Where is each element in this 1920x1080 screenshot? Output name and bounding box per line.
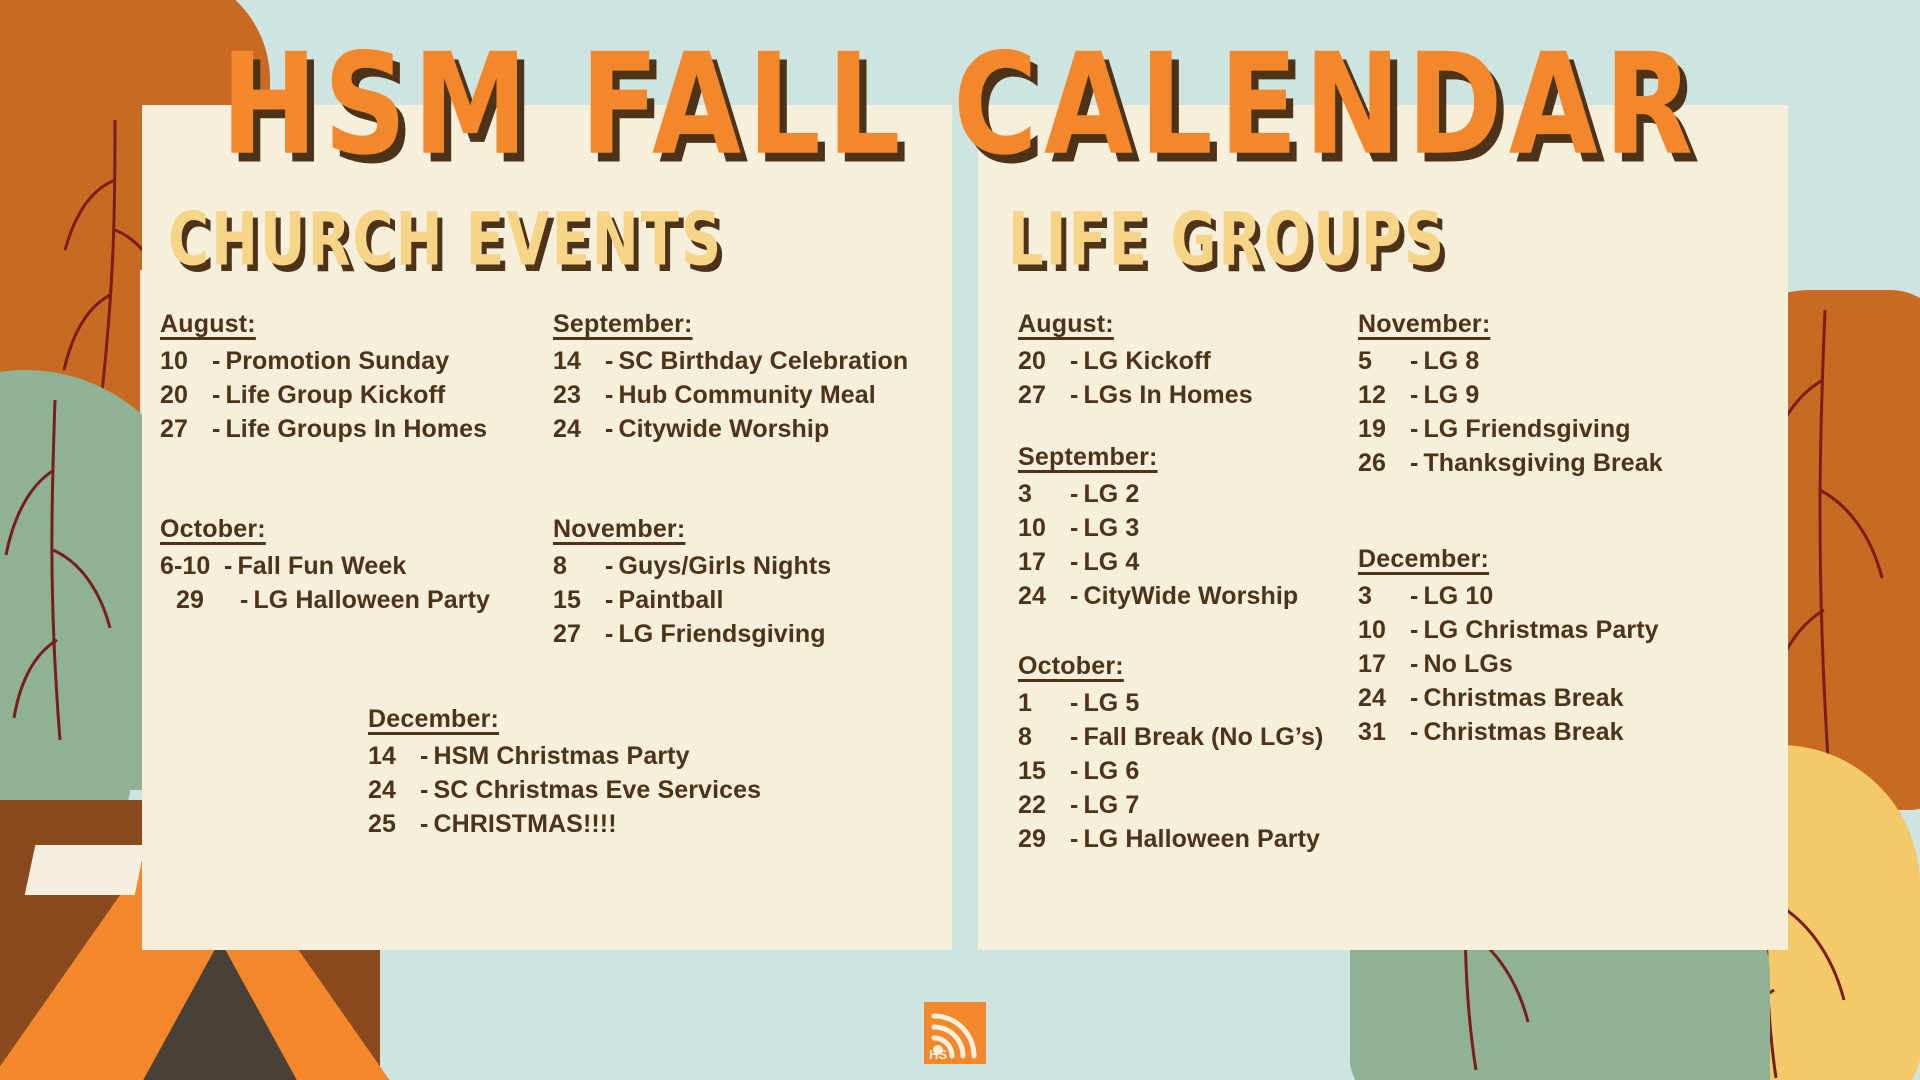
separator: - — [1408, 378, 1423, 412]
separator: - — [210, 344, 225, 378]
event: LG 4 — [1083, 545, 1139, 579]
brand-logo: HS — [924, 1002, 986, 1064]
date: 27 — [553, 617, 603, 651]
list-item: 1-LG 5 — [1018, 686, 1323, 720]
separator: - — [1408, 647, 1423, 681]
church-november-block: November: 8-Guys/Girls Nights 15-Paintba… — [553, 515, 831, 651]
list-item: 31-Christmas Break — [1358, 715, 1659, 749]
page-title: HSM FALL CALENDAR — [0, 24, 1920, 187]
separator: - — [1068, 344, 1083, 378]
separator: - — [603, 617, 618, 651]
date: 17 — [1018, 545, 1068, 579]
separator: - — [603, 412, 618, 446]
church-august-block: August: 10-Promotion Sunday 20-Life Grou… — [160, 310, 487, 446]
separator: - — [1408, 681, 1423, 715]
event: Paintball — [618, 583, 723, 617]
date: 24 — [553, 412, 603, 446]
event: Fall Fun Week — [237, 549, 406, 583]
month-label: August: — [160, 310, 487, 339]
separator: - — [418, 739, 433, 773]
event: LG Friendsgiving — [618, 617, 825, 651]
separator: - — [1068, 754, 1083, 788]
logo-text: HS — [929, 1047, 947, 1062]
separator: - — [418, 773, 433, 807]
event: SC Birthday Celebration — [618, 344, 908, 378]
event: No LGs — [1423, 647, 1513, 681]
list-item: 29-LG Halloween Party — [1018, 822, 1323, 856]
separator: - — [1068, 822, 1083, 856]
list-item: 8-Fall Break (No LG’s) — [1018, 720, 1323, 754]
separator: - — [222, 549, 237, 583]
event: LG Christmas Party — [1423, 613, 1658, 647]
separator: - — [1408, 446, 1423, 480]
date: 17 — [1358, 647, 1408, 681]
date: 24 — [1358, 681, 1408, 715]
date: 8 — [1018, 720, 1068, 754]
date: 1 — [1018, 686, 1068, 720]
date: 15 — [553, 583, 603, 617]
list-item: 10-LG Christmas Party — [1358, 613, 1659, 647]
separator: - — [1068, 545, 1083, 579]
event: Fall Break (No LG’s) — [1083, 720, 1323, 754]
section-heading-life-groups: LIFE GROUPS — [1008, 198, 1446, 283]
list-item: 23-Hub Community Meal — [553, 378, 908, 412]
list-item: 20-LG Kickoff — [1018, 344, 1253, 378]
separator: - — [603, 549, 618, 583]
event: SC Christmas Eve Services — [433, 773, 761, 807]
separator: - — [1408, 715, 1423, 749]
date: 8 — [553, 549, 603, 583]
event: LG 10 — [1423, 579, 1493, 613]
list-item: 25-CHRISTMAS!!!! — [368, 807, 761, 841]
date: 12 — [1358, 378, 1408, 412]
event: Hub Community Meal — [618, 378, 875, 412]
date: 25 — [368, 807, 418, 841]
month-label: December: — [1358, 545, 1659, 574]
separator: - — [603, 344, 618, 378]
date: 20 — [160, 378, 210, 412]
date: 15 — [1018, 754, 1068, 788]
event: Thanksgiving Break — [1423, 446, 1662, 480]
list-item: 20-Life Group Kickoff — [160, 378, 487, 412]
separator: - — [1068, 378, 1083, 412]
church-october-block: October: 6-10-Fall Fun Week 29-LG Hallow… — [160, 515, 490, 617]
separator: - — [1068, 579, 1083, 613]
church-september-block: September: 14-SC Birthday Celebration 23… — [553, 310, 908, 446]
list-item: 3-LG 2 — [1018, 477, 1298, 511]
event: LG 2 — [1083, 477, 1139, 511]
month-label: November: — [1358, 310, 1663, 339]
separator: - — [238, 583, 253, 617]
date: 3 — [1358, 579, 1408, 613]
date: 6-10 — [160, 549, 222, 583]
date: 29 — [176, 583, 238, 617]
list-item: 15-Paintball — [553, 583, 831, 617]
list-item: 24-SC Christmas Eve Services — [368, 773, 761, 807]
list-item: 10-Promotion Sunday — [160, 344, 487, 378]
separator: - — [1408, 412, 1423, 446]
list-item: 10-LG 3 — [1018, 511, 1298, 545]
event: LG 5 — [1083, 686, 1139, 720]
date: 19 — [1358, 412, 1408, 446]
event: Life Groups In Homes — [225, 412, 487, 446]
event: LGs In Homes — [1083, 378, 1252, 412]
date: 31 — [1358, 715, 1408, 749]
separator: - — [603, 583, 618, 617]
date: 5 — [1358, 344, 1408, 378]
date: 24 — [368, 773, 418, 807]
separator: - — [1068, 477, 1083, 511]
event: CHRISTMAS!!!! — [433, 807, 616, 841]
separator: - — [1068, 511, 1083, 545]
event: Guys/Girls Nights — [618, 549, 831, 583]
lifegroups-september-block: September: 3-LG 2 10-LG 3 17-LG 4 24-Cit… — [1018, 443, 1298, 613]
event: LG 7 — [1083, 788, 1139, 822]
event: LG 9 — [1423, 378, 1479, 412]
date: 10 — [1358, 613, 1408, 647]
event: LG 8 — [1423, 344, 1479, 378]
month-label: November: — [553, 515, 831, 544]
lifegroups-august-block: August: 20-LG Kickoff 27-LGs In Homes — [1018, 310, 1253, 412]
list-item: 12-LG 9 — [1358, 378, 1663, 412]
date: 3 — [1018, 477, 1068, 511]
list-item: 17-No LGs — [1358, 647, 1659, 681]
list-item: 27-LG Friendsgiving — [553, 617, 831, 651]
event: LG Halloween Party — [253, 583, 490, 617]
list-item: 3-LG 10 — [1358, 579, 1659, 613]
event: Life Group Kickoff — [225, 378, 445, 412]
month-label: December: — [368, 705, 761, 734]
date: 24 — [1018, 579, 1068, 613]
separator: - — [1408, 613, 1423, 647]
event: LG 3 — [1083, 511, 1139, 545]
section-heading-church-events: CHURCH EVENTS — [168, 198, 723, 283]
list-item: 27-LGs In Homes — [1018, 378, 1253, 412]
separator: - — [210, 412, 225, 446]
list-item: 26-Thanksgiving Break — [1358, 446, 1663, 480]
date: 23 — [553, 378, 603, 412]
list-item: 27-Life Groups In Homes — [160, 412, 487, 446]
separator: - — [603, 378, 618, 412]
list-item: 24-Citywide Worship — [553, 412, 908, 446]
list-item: 14-HSM Christmas Party — [368, 739, 761, 773]
list-item: 29-LG Halloween Party — [160, 583, 490, 617]
date: 26 — [1358, 446, 1408, 480]
event: Christmas Break — [1423, 715, 1623, 749]
list-item: 24-Christmas Break — [1358, 681, 1659, 715]
list-item: 24-CityWide Worship — [1018, 579, 1298, 613]
date: 14 — [368, 739, 418, 773]
event: HSM Christmas Party — [433, 739, 689, 773]
event: Promotion Sunday — [225, 344, 449, 378]
lifegroups-november-block: November: 5-LG 8 12-LG 9 19-LG Friendsgi… — [1358, 310, 1663, 480]
lifegroups-october-block: October: 1-LG 5 8-Fall Break (No LG’s) 1… — [1018, 652, 1323, 856]
event: LG Halloween Party — [1083, 822, 1320, 856]
event: CityWide Worship — [1083, 579, 1298, 613]
separator: - — [1068, 788, 1083, 822]
list-item: 15-LG 6 — [1018, 754, 1323, 788]
date: 20 — [1018, 344, 1068, 378]
separator: - — [1068, 720, 1083, 754]
church-december-block: December: 14-HSM Christmas Party 24-SC C… — [368, 705, 761, 841]
event: LG Friendsgiving — [1423, 412, 1630, 446]
date: 14 — [553, 344, 603, 378]
date: 27 — [1018, 378, 1068, 412]
list-item: 19-LG Friendsgiving — [1358, 412, 1663, 446]
list-item: 8-Guys/Girls Nights — [553, 549, 831, 583]
event: LG Kickoff — [1083, 344, 1210, 378]
list-item: 22-LG 7 — [1018, 788, 1323, 822]
event: Citywide Worship — [618, 412, 829, 446]
tent-flap-icon — [25, 845, 146, 895]
event: LG 6 — [1083, 754, 1139, 788]
separator: - — [1408, 579, 1423, 613]
month-label: October: — [160, 515, 490, 544]
separator: - — [418, 807, 433, 841]
list-item: 17-LG 4 — [1018, 545, 1298, 579]
month-label: October: — [1018, 652, 1323, 681]
date: 10 — [160, 344, 210, 378]
date: 27 — [160, 412, 210, 446]
separator: - — [1408, 344, 1423, 378]
date: 29 — [1018, 822, 1068, 856]
date: 22 — [1018, 788, 1068, 822]
month-label: September: — [553, 310, 908, 339]
tent-door-icon — [135, 940, 305, 1080]
lifegroups-december-block: December: 3-LG 10 10-LG Christmas Party … — [1358, 545, 1659, 749]
month-label: August: — [1018, 310, 1253, 339]
separator: - — [1068, 686, 1083, 720]
list-item: 14-SC Birthday Celebration — [553, 344, 908, 378]
event: Christmas Break — [1423, 681, 1623, 715]
separator: - — [210, 378, 225, 412]
list-item: 6-10-Fall Fun Week — [160, 549, 490, 583]
date: 10 — [1018, 511, 1068, 545]
list-item: 5-LG 8 — [1358, 344, 1663, 378]
month-label: September: — [1018, 443, 1298, 472]
